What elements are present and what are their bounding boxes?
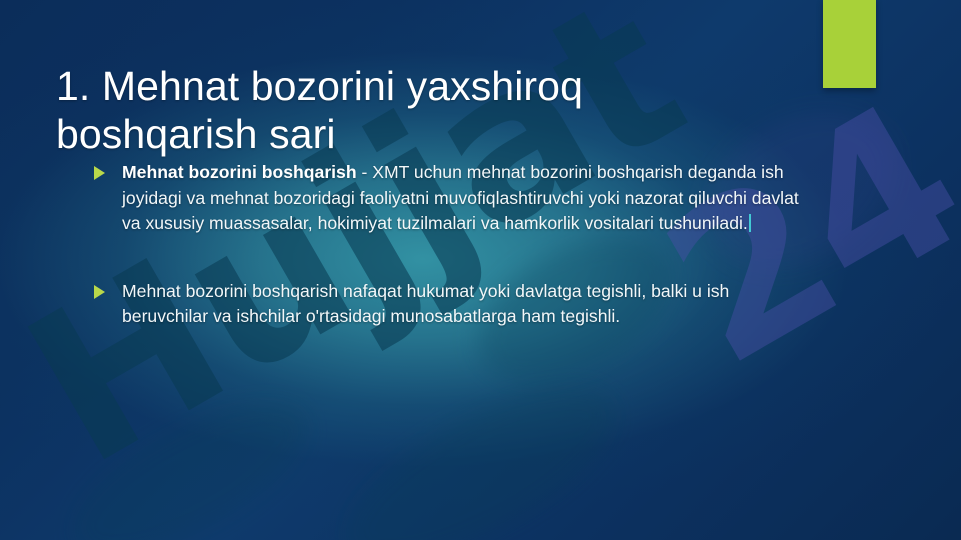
triangle-right-icon [94, 166, 105, 180]
background-blob [322, 356, 639, 540]
text-caret [749, 214, 751, 232]
bullet-body-text: Mehnat bozorini boshqarish nafaqat hukum… [122, 281, 729, 327]
list-item: Mehnat bozorini boshqarish nafaqat hukum… [92, 279, 804, 330]
content-body: Mehnat bozorini boshqarish - XMT uchun m… [92, 160, 804, 330]
bullet-paragraph: Mehnat bozorini boshqarish - XMT uchun m… [122, 160, 804, 237]
background-blob [52, 375, 329, 540]
triangle-right-icon [94, 285, 105, 299]
accent-bar [823, 0, 876, 88]
bullet-paragraph: Mehnat bozorini boshqarish nafaqat hukum… [122, 279, 804, 330]
bullet-lead-bold: Mehnat bozorini boshqarish [122, 162, 357, 182]
list-item: Mehnat bozorini boshqarish - XMT uchun m… [92, 160, 804, 237]
presentation-slide: Hujjat 24 1. Mehnat bozorini yaxshiroq b… [0, 0, 961, 540]
page-title: 1. Mehnat bozorini yaxshiroq boshqarish … [56, 63, 676, 158]
